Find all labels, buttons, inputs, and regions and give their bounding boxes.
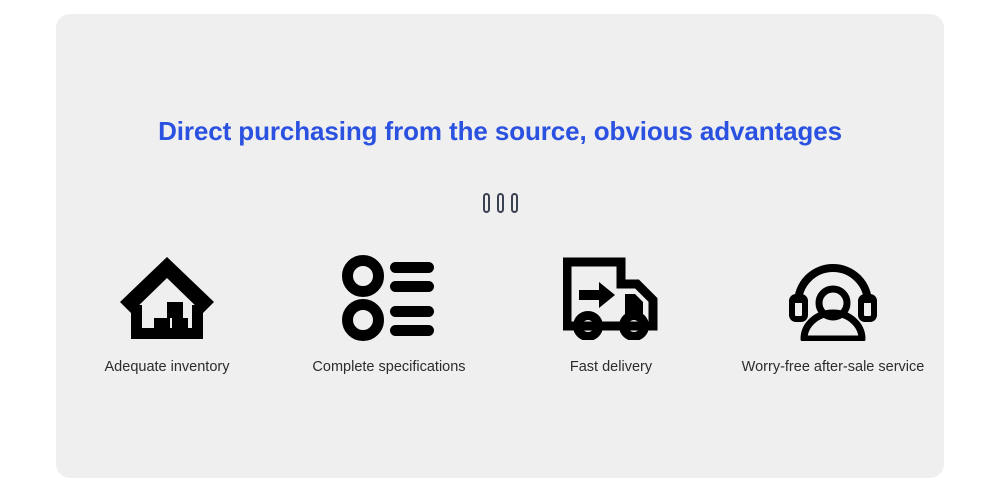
divider-bar-icon [497,193,504,213]
page-title: Direct purchasing from the source, obvio… [56,114,944,148]
divider-bar-icon [483,193,490,213]
feature-label: Adequate inventory [105,358,230,376]
advantages-card: Direct purchasing from the source, obvio… [56,14,944,478]
specification-list-icon [342,252,436,344]
divider-bar-icon [511,193,518,213]
feature-label: Fast delivery [570,358,652,376]
delivery-truck-icon [563,252,659,344]
feature-list: Adequate inventory [56,252,944,376]
feature-label: Worry-free after-sale service [742,358,925,376]
feature-item-support: Worry-free after-sale service [728,252,938,376]
warehouse-house-icon [117,252,217,344]
divider [56,193,944,213]
feature-item-specifications: Complete specifications [284,252,494,376]
feature-item-inventory: Adequate inventory [62,252,272,376]
feature-item-delivery: Fast delivery [506,252,716,376]
feature-label: Complete specifications [312,358,465,376]
page-canvas: Direct purchasing from the source, obvio… [0,0,1000,499]
headset-support-icon [787,252,879,344]
